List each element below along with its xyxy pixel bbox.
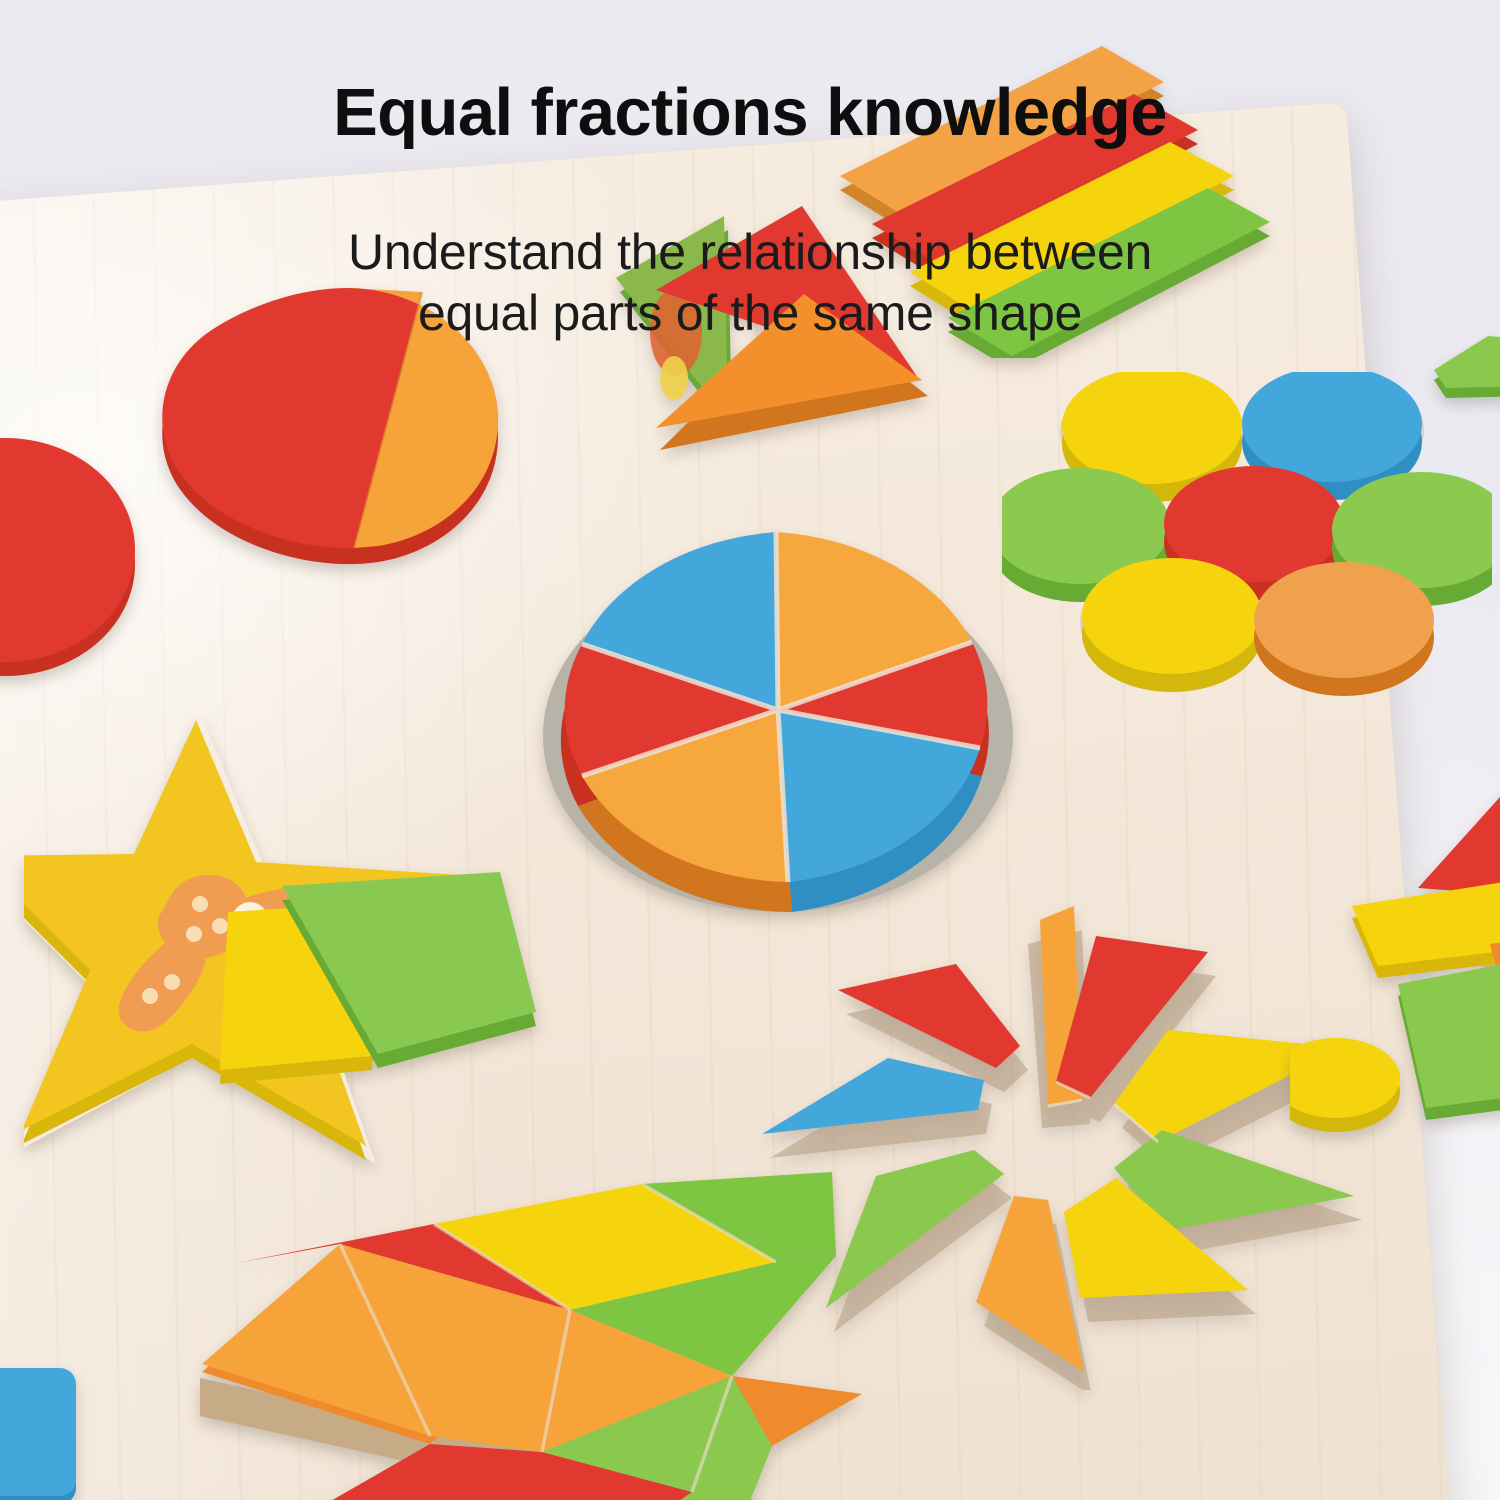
page-title: Equal fractions knowledge [0, 78, 1500, 148]
piece-yellow-disc-off-board[interactable] [1290, 1030, 1420, 1140]
page-subtitle: Understand the relationship between equa… [0, 222, 1500, 344]
piece-star-five-point-with-starfish[interactable] [24, 690, 584, 1190]
piece-blue-piece-off-board[interactable] [0, 1368, 106, 1500]
product-photo-scene: Equal fractions knowledge Understand the… [0, 0, 1500, 1500]
subtitle-line-1: Understand the relationship between [0, 222, 1500, 283]
subtitle-line-2: equal parts of the same shape [0, 283, 1500, 344]
piece-circle-cluster-seven-discs[interactable] [1002, 372, 1492, 712]
piece-circle-six-slices[interactable] [530, 518, 1030, 938]
